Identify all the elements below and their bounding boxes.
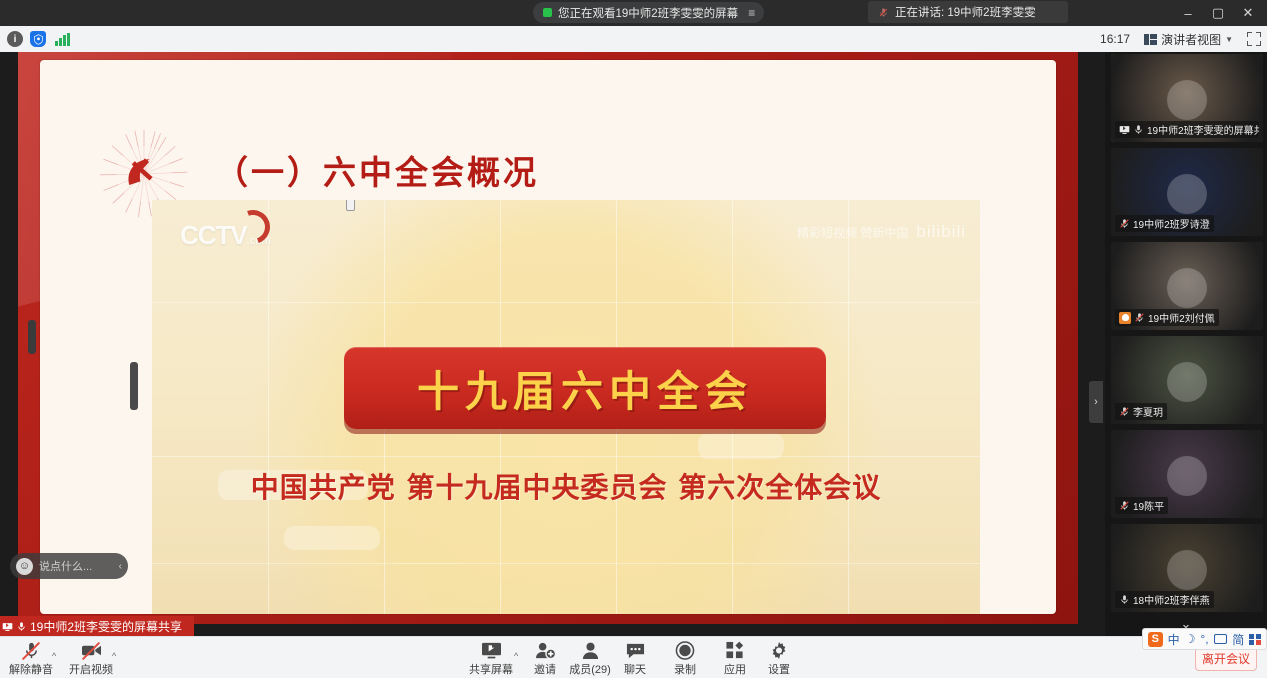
stage-left-handle[interactable] [28, 320, 36, 354]
participant-name: 19中师2班罗诗澄 [1133, 216, 1210, 231]
view-mode-label: 演讲者视图 [1161, 31, 1221, 48]
collapse-panel-arrow[interactable]: › [1089, 381, 1103, 423]
ime-toolbar[interactable]: S 中 ☽ °, 简 [1142, 628, 1267, 650]
chat-placeholder[interactable]: 说点什么... [39, 558, 113, 574]
mute-toggle-label: 解除静音 [9, 661, 53, 677]
avatar [1167, 174, 1207, 214]
chevron-down-icon: ▼ [1225, 35, 1233, 44]
participant-name: 19陈平 [1133, 498, 1164, 513]
presentation-slide: （一）六中全会概况 CCTV.com 精彩短视频 赞新中国 bilibil [18, 52, 1078, 624]
chat-icon [625, 641, 646, 660]
screen-share-banner: 19中师2班李雯雯的屏幕共享 [0, 616, 194, 636]
mic-active-icon [878, 7, 889, 18]
participant-label: 18中师2班李伴燕 [1115, 591, 1214, 608]
participant-name: 李夏玥 [1133, 404, 1163, 419]
screen-share-status-dot [543, 8, 552, 17]
settings-label: 设置 [768, 661, 790, 677]
invite-label: 邀请 [534, 661, 556, 677]
camera-muted-icon [81, 641, 102, 660]
participant-tile[interactable]: 李夏玥 [1111, 336, 1263, 424]
clock: 16:17 [1100, 32, 1130, 46]
participant-name: 18中师2班李伴燕 [1133, 592, 1210, 607]
mic-options-caret[interactable]: ^ [52, 651, 56, 661]
mic-muted-icon [1134, 312, 1145, 323]
window-title-bar: 您正在观看19中师2班李雯雯的屏幕 ≡ 正在讲话: 19中师2班李雯雯 – ▢ … [0, 0, 1267, 26]
apps-icon [725, 641, 745, 660]
sogou-logo-icon[interactable]: S [1148, 632, 1163, 647]
chat-label: 聊天 [624, 661, 646, 677]
slide-heading: （一）六中全会概况 [215, 146, 539, 194]
record-icon [675, 641, 695, 660]
watching-screen-notice[interactable]: 您正在观看19中师2班李雯雯的屏幕 ≡ [533, 2, 764, 23]
avatar [1167, 550, 1207, 590]
bili-slogan: 精彩短视频 赞新中国 [797, 224, 908, 241]
video-title-text: 十九届六中全会 [417, 358, 753, 419]
view-controls: 16:17 演讲者视图 ▼ [1100, 29, 1261, 50]
punctuation-icon[interactable]: °, [1200, 632, 1208, 646]
mic-muted-icon [1119, 500, 1130, 511]
cctv-watermark: CCTV.com [180, 220, 271, 251]
participant-label: 19中师2班罗诗澄 [1115, 215, 1214, 232]
shield-icon[interactable] [30, 31, 46, 47]
network-signal-icon[interactable] [53, 31, 71, 47]
participants-icon [580, 641, 601, 660]
maximize-button[interactable]: ▢ [1203, 0, 1233, 26]
settings-button[interactable]: 设置 [750, 640, 808, 678]
camera-options-caret[interactable]: ^ [112, 651, 116, 661]
mic-muted-icon [1119, 218, 1130, 229]
avatar [1167, 80, 1207, 120]
screen-share-icon [2, 621, 13, 632]
avatar [1167, 268, 1207, 308]
share-screen-label: 共享屏幕 [469, 661, 513, 677]
bilibili-logo: bilibili [916, 222, 966, 242]
participant-tile[interactable]: 19陈平 [1111, 430, 1263, 518]
quick-chat-input[interactable]: ☺ 说点什么... ‹ [10, 553, 128, 579]
mic-icon [1133, 124, 1144, 135]
participant-tile[interactable]: 19中师2班罗诗澄 [1111, 148, 1263, 236]
avatar-badge-icon [1119, 312, 1131, 324]
video-title-banner: 十九届六中全会 [344, 347, 826, 429]
window-controls: – ▢ ✕ [1173, 0, 1263, 26]
invite-icon [535, 641, 556, 660]
shared-screen-stage: （一）六中全会概况 CCTV.com 精彩短视频 赞新中国 bilibil [0, 52, 1105, 636]
participant-tile[interactable]: 19中师2刘付佩 [1111, 242, 1263, 330]
ime-language-toggle[interactable]: 中 [1168, 631, 1180, 648]
apps-label: 应用 [724, 661, 746, 677]
info-icon[interactable]: i [7, 31, 23, 47]
close-button[interactable]: ✕ [1233, 0, 1263, 26]
bilibili-watermark: 精彩短视频 赞新中国 bilibili [797, 222, 966, 242]
toolbox-icon[interactable] [1249, 634, 1261, 645]
keyboard-icon[interactable] [1214, 634, 1228, 644]
video-progress-handle[interactable] [346, 200, 355, 211]
mic-muted-icon [1119, 406, 1130, 417]
participant-name: 19中师2班李雯雯的屏幕共享 [1147, 122, 1259, 137]
chat-collapse-icon[interactable]: ‹ [119, 561, 122, 572]
screen-share-icon [481, 641, 502, 660]
watching-screen-text: 您正在观看19中师2班李雯雯的屏幕 [558, 5, 738, 21]
meeting-info-bar: i 16:17 演讲者视图 ▼ [0, 26, 1267, 52]
participant-label: 李夏玥 [1115, 403, 1167, 420]
active-speaker-notice: 正在讲话: 19中师2班李雯雯 [868, 1, 1068, 23]
avatar [1167, 362, 1207, 402]
gear-icon [769, 641, 789, 660]
participant-label: 19陈平 [1115, 497, 1168, 514]
meeting-toolbar: 解除静音 ^ 开启视频 ^ 共享屏幕 ^ [0, 636, 1267, 678]
share-banner-text: 19中师2班李雯雯的屏幕共享 [30, 618, 182, 635]
mic-muted-icon [22, 641, 41, 660]
avatar [1167, 456, 1207, 496]
speaker-view-icon [1144, 34, 1157, 45]
ime-simplified-toggle[interactable]: 简 [1232, 631, 1244, 648]
fullscreen-icon[interactable] [1247, 32, 1261, 46]
record-label: 录制 [674, 661, 696, 677]
minimize-button[interactable]: – [1173, 0, 1203, 26]
mic-icon [16, 621, 27, 632]
slide-canvas: （一）六中全会概况 CCTV.com 精彩短视频 赞新中国 bilibil [40, 60, 1056, 614]
slide-inner-handle[interactable] [130, 362, 138, 410]
video-subtitle: 中国共产党 第十九届中央委员会 第六次全体会议 [152, 466, 980, 506]
participant-strip[interactable]: 19中师2班李雯雯的屏幕共享19中师2班罗诗澄19中师2刘付佩李夏玥19陈平18… [1105, 52, 1267, 636]
emoji-icon[interactable]: ☺ [16, 558, 33, 575]
participants-label: 成员(29) [569, 661, 611, 677]
participant-tile[interactable]: 19中师2班李雯雯的屏幕共享 [1111, 54, 1263, 142]
participant-tile[interactable]: 18中师2班李伴燕 [1111, 524, 1263, 612]
view-mode-selector[interactable]: 演讲者视图 ▼ [1138, 29, 1239, 50]
embedded-video[interactable]: CCTV.com 精彩短视频 赞新中国 bilibili 十九届六中全会 中国共… [152, 200, 980, 614]
notice-menu-icon[interactable]: ≡ [748, 6, 754, 20]
participant-name: 19中师2刘付佩 [1148, 310, 1215, 325]
video-toggle-label: 开启视频 [69, 661, 113, 677]
participant-label: 19中师2班李雯雯的屏幕共享 [1115, 121, 1259, 138]
mic-icon [1119, 594, 1130, 605]
active-speaker-text: 正在讲话: 19中师2班李雯雯 [895, 4, 1036, 20]
moon-icon[interactable]: ☽ [1185, 632, 1196, 646]
share-screen-button[interactable]: 共享屏幕 [462, 640, 520, 678]
participant-label: 19中师2刘付佩 [1115, 309, 1219, 326]
screen-share-icon [1119, 124, 1130, 135]
